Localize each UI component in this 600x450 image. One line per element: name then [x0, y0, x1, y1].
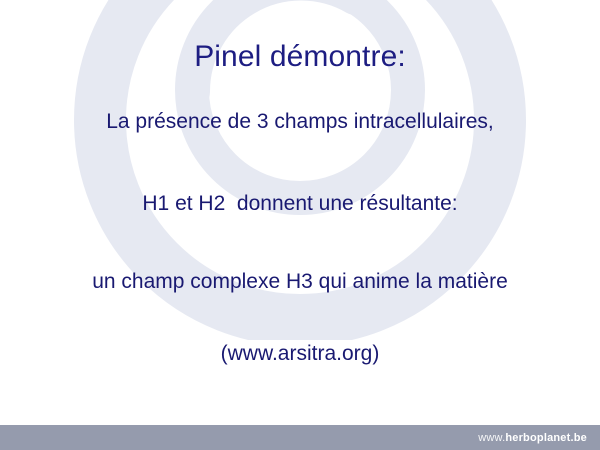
slide-canvas: Pinel démontre: La présence de 3 champs … [0, 0, 600, 450]
page-title: Pinel démontre: [0, 40, 600, 74]
footer-url-prefix: www. [478, 432, 505, 444]
body-line-2: H1 et H2 donnent une résultante: [0, 192, 600, 216]
body-line-3: un champ complexe H3 qui anime la matièr… [0, 270, 600, 294]
footer-bar: www.herboplanet.be [0, 425, 600, 450]
footer-url-domain: herboplanet.be [505, 432, 587, 444]
body-line-4-source-url: (www.arsitra.org) [0, 342, 600, 366]
slide-text-content: Pinel démontre: La présence de 3 champs … [0, 0, 600, 425]
footer-website-url: www.herboplanet.be [459, 420, 587, 450]
body-line-1: La présence de 3 champs intracellulaires… [0, 110, 600, 134]
